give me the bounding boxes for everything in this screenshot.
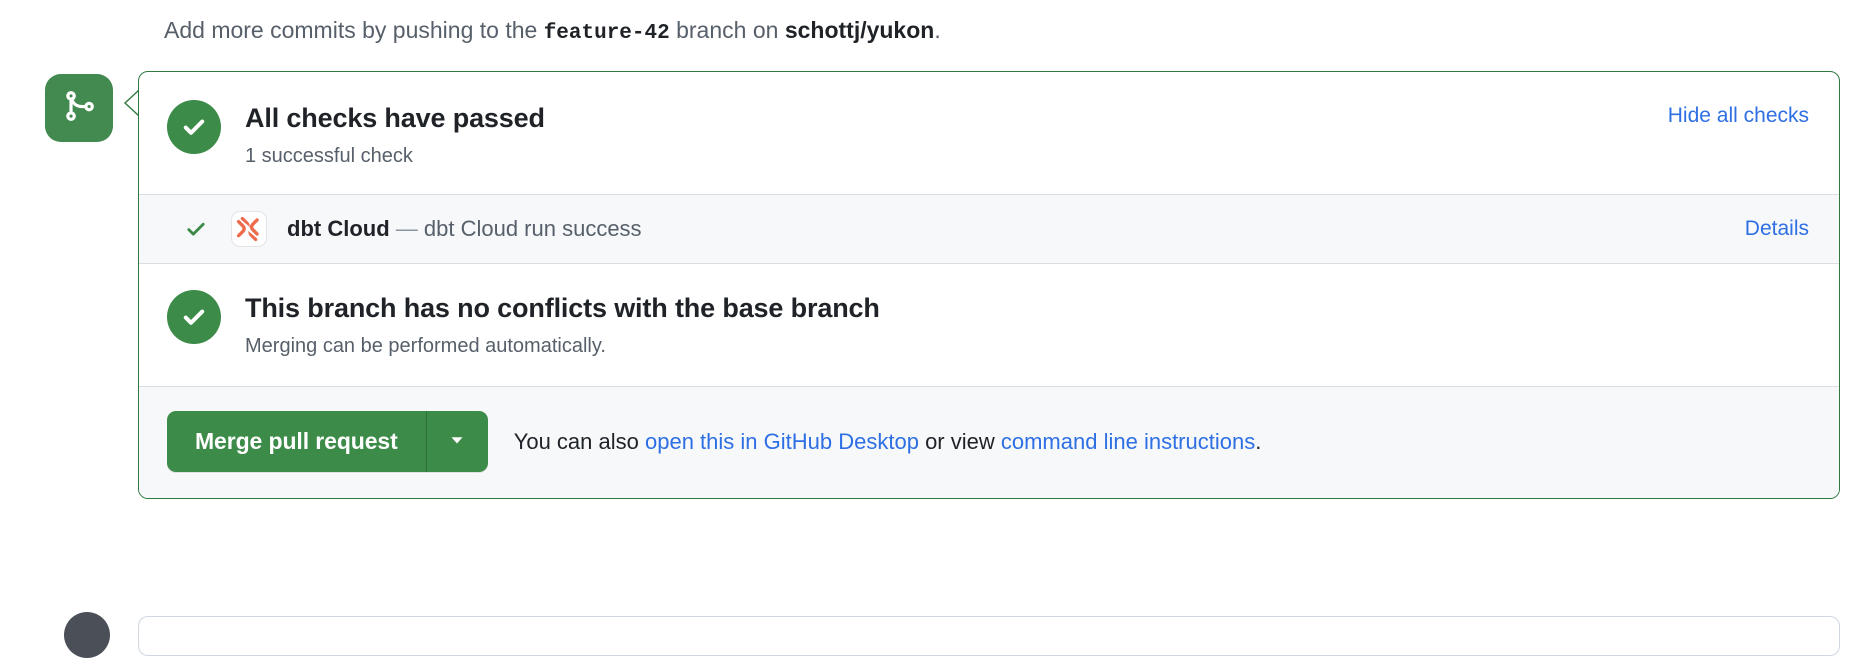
notice-middle: branch on bbox=[676, 17, 778, 43]
merge-action-section: Merge pull request You can also open thi… bbox=[139, 386, 1839, 498]
avatar[interactable] bbox=[64, 612, 110, 658]
repository-name: schottj/yukon bbox=[785, 17, 935, 43]
conflicts-subtitle: Merging can be performed automatically. bbox=[245, 332, 880, 360]
check-row-text: dbt Cloud — dbt Cloud run success bbox=[287, 214, 642, 244]
merge-button-group: Merge pull request bbox=[167, 411, 488, 472]
checks-summary-text: All checks have passed 1 successful chec… bbox=[245, 98, 545, 170]
conflicts-title: This branch has no conflicts with the ba… bbox=[245, 291, 880, 325]
footer-prefix: You can also bbox=[514, 429, 639, 454]
merge-pull-request-button[interactable]: Merge pull request bbox=[167, 411, 426, 472]
checks-subtitle: 1 successful check bbox=[245, 142, 545, 170]
git-merge-icon bbox=[62, 89, 96, 128]
check-icon bbox=[183, 216, 209, 242]
push-commits-notice: Add more commits by pushing to the featu… bbox=[164, 14, 941, 50]
checks-summary-section: All checks have passed 1 successful chec… bbox=[139, 72, 1839, 194]
chevron-down-icon bbox=[446, 429, 468, 454]
check-app-name: dbt Cloud bbox=[287, 216, 390, 241]
command-line-instructions-link[interactable]: command line instructions bbox=[1001, 429, 1255, 454]
next-timeline-item bbox=[138, 616, 1840, 656]
timeline-merge-badge bbox=[45, 74, 113, 142]
notice-prefix: Add more commits by pushing to the bbox=[164, 17, 537, 43]
footer-suffix: . bbox=[1255, 429, 1261, 454]
check-row[interactable]: dbt Cloud — dbt Cloud run success Detail… bbox=[139, 194, 1839, 263]
notice-suffix: . bbox=[934, 17, 940, 43]
dbt-cloud-logo bbox=[231, 211, 267, 247]
check-circle-icon bbox=[167, 290, 221, 344]
branch-name: feature-42 bbox=[544, 22, 670, 45]
check-circle-icon bbox=[167, 100, 221, 154]
check-dash: — bbox=[396, 216, 418, 241]
conflicts-section: This branch has no conflicts with the ba… bbox=[139, 263, 1839, 386]
check-description: dbt Cloud run success bbox=[424, 216, 642, 241]
conflicts-text: This branch has no conflicts with the ba… bbox=[245, 288, 880, 360]
footer-middle: or view bbox=[925, 429, 995, 454]
checks-title: All checks have passed bbox=[245, 101, 545, 135]
hide-all-checks-link[interactable]: Hide all checks bbox=[1668, 104, 1809, 128]
merge-options-dropdown-button[interactable] bbox=[426, 411, 488, 472]
merge-status-box: All checks have passed 1 successful chec… bbox=[138, 71, 1840, 499]
check-details-link[interactable]: Details bbox=[1745, 217, 1809, 241]
merge-footer-text: You can also open this in GitHub Desktop… bbox=[514, 427, 1262, 457]
open-in-github-desktop-link[interactable]: open this in GitHub Desktop bbox=[645, 429, 919, 454]
